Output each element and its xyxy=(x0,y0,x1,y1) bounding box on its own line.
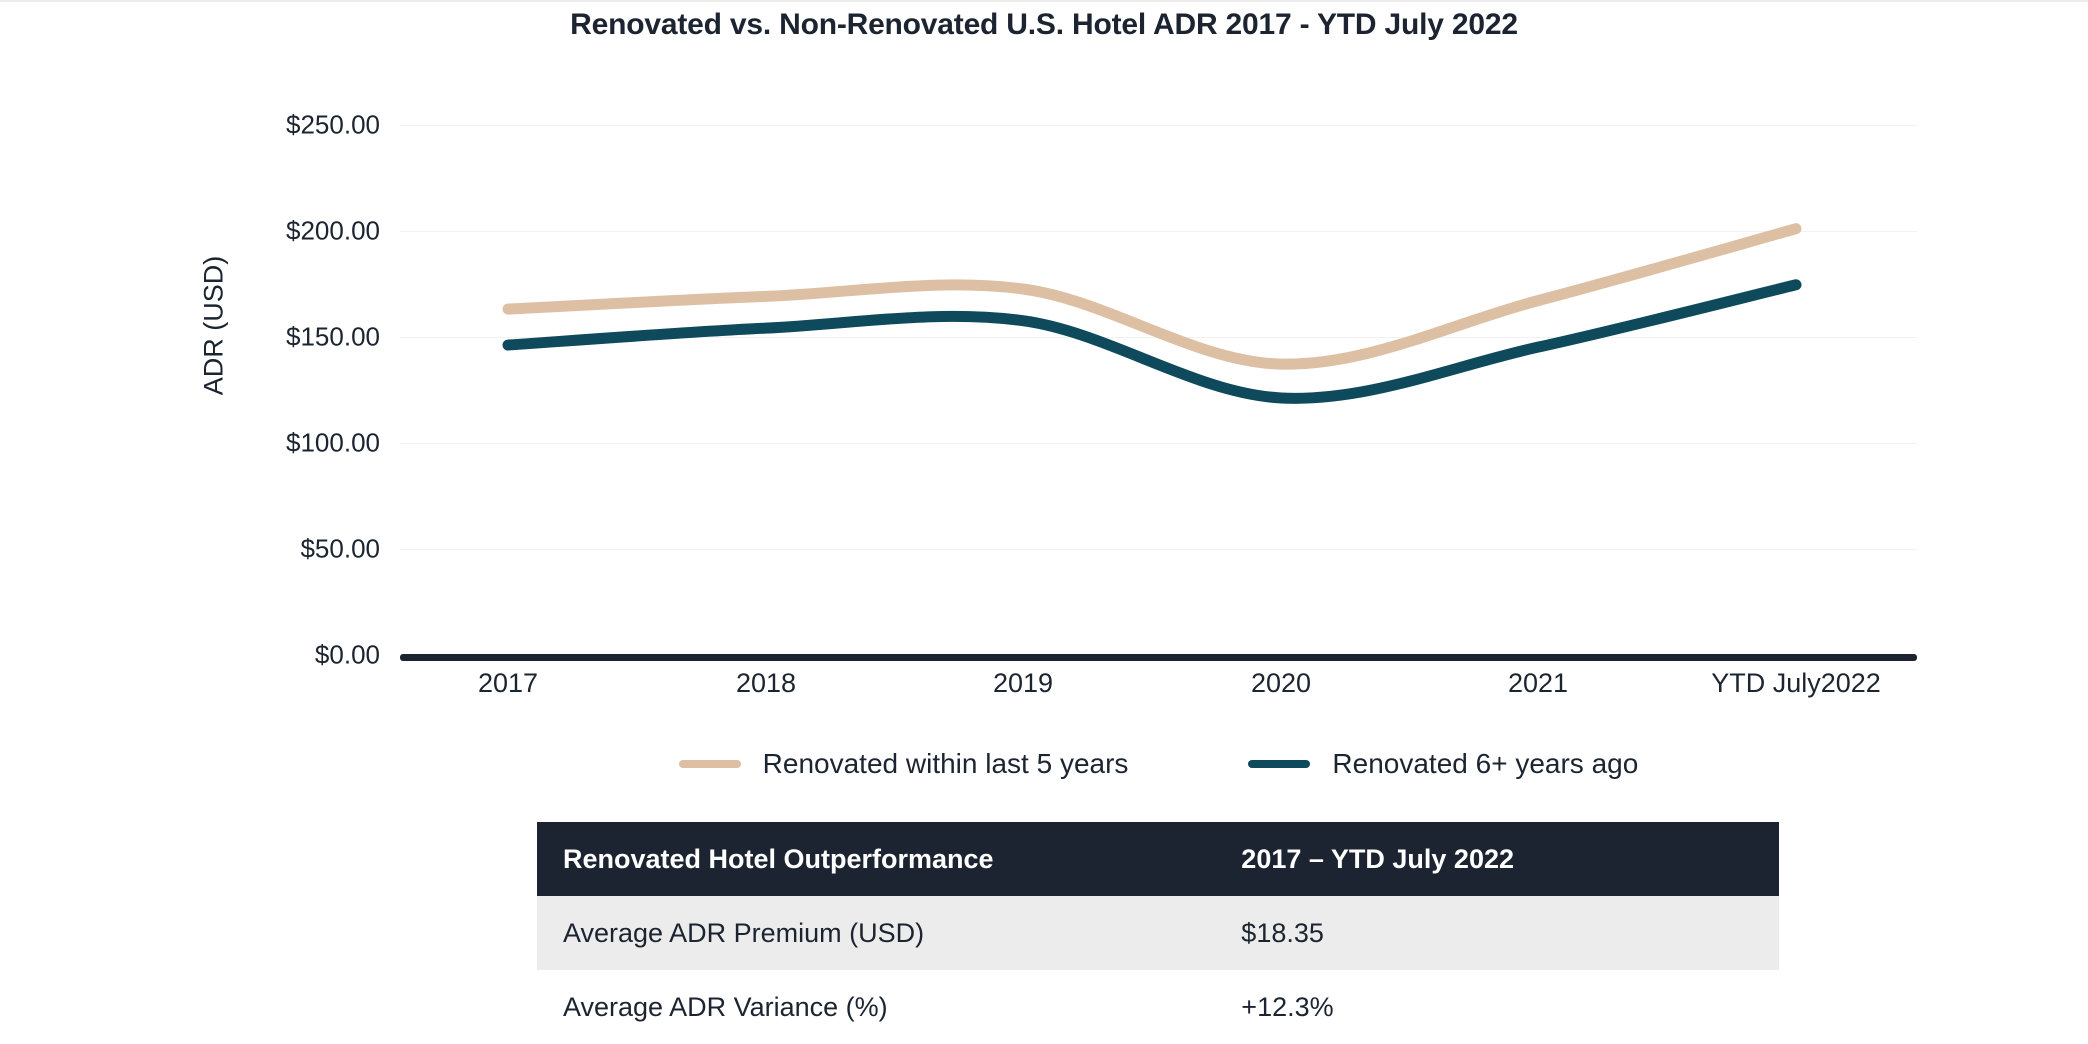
x-axis: 2017 2018 2019 2020 2021 YTD July2022 xyxy=(400,668,1917,718)
y-tick-label: $250.00 xyxy=(140,110,380,141)
line-renovated-within-5-years xyxy=(508,229,1796,364)
plot-area xyxy=(400,118,1917,663)
y-axis: ADR (USD) $250.00 $200.00 $150.00 $100.0… xyxy=(130,0,380,1040)
legend-label: Renovated within last 5 years xyxy=(763,748,1129,780)
y-tick-label: $0.00 xyxy=(140,640,380,671)
series-lines xyxy=(400,118,1917,663)
table-cell-value: +12.3% xyxy=(1215,970,1779,1044)
table-header-cell-metric: Renovated Hotel Outperformance xyxy=(537,822,1215,896)
legend-swatch-icon xyxy=(679,760,741,768)
table-cell-value: $18.35 xyxy=(1215,896,1779,970)
table-row: Average ADR Premium (USD) $18.35 xyxy=(537,896,1779,970)
chart-legend: Renovated within last 5 years Renovated … xyxy=(400,748,1917,780)
x-tick-label: 2017 xyxy=(478,668,538,699)
legend-item-renovated-within-5-years[interactable]: Renovated within last 5 years xyxy=(679,748,1129,780)
x-tick-label: 2021 xyxy=(1508,668,1568,699)
x-tick-label: YTD July2022 xyxy=(1711,668,1881,699)
table-row: Average ADR Variance (%) +12.3% xyxy=(537,970,1779,1044)
summary-table: Renovated Hotel Outperformance 2017 – YT… xyxy=(537,822,1779,1044)
table-header-row: Renovated Hotel Outperformance 2017 – YT… xyxy=(537,822,1779,896)
y-tick-label: $100.00 xyxy=(140,428,380,459)
table-cell-label: Average ADR Variance (%) xyxy=(537,970,1215,1044)
x-axis-baseline xyxy=(400,654,1917,661)
y-tick-label: $150.00 xyxy=(140,322,380,353)
x-tick-label: 2019 xyxy=(993,668,1053,699)
x-tick-label: 2018 xyxy=(736,668,796,699)
x-tick-label: 2020 xyxy=(1251,668,1311,699)
legend-swatch-icon xyxy=(1248,760,1310,768)
table-cell-label: Average ADR Premium (USD) xyxy=(537,896,1215,970)
y-tick-label: $50.00 xyxy=(140,534,380,565)
legend-label: Renovated 6+ years ago xyxy=(1332,748,1638,780)
table-header-cell-period: 2017 – YTD July 2022 xyxy=(1215,822,1779,896)
legend-item-renovated-6-plus-years[interactable]: Renovated 6+ years ago xyxy=(1248,748,1638,780)
chart-figure: Renovated vs. Non-Renovated U.S. Hotel A… xyxy=(0,0,2088,1040)
y-tick-label: $200.00 xyxy=(140,216,380,247)
